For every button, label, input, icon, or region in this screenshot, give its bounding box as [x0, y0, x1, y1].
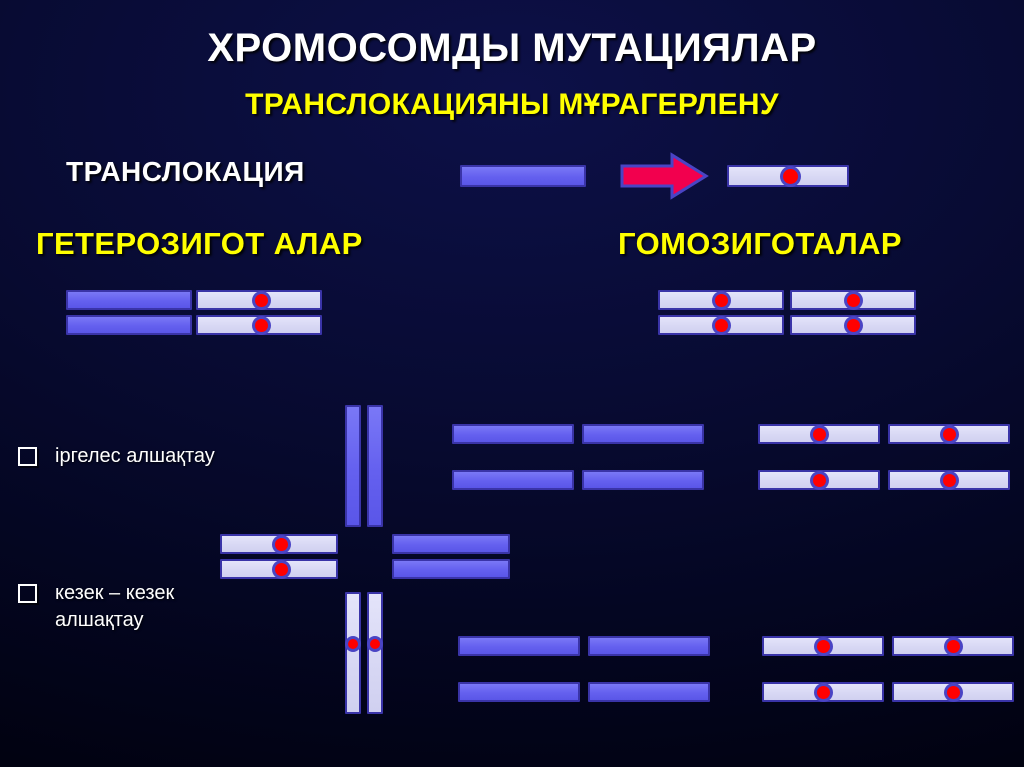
chromosome-bar [220, 534, 338, 554]
heterozygote-heading: ГЕТЕРОЗИГОТ АЛАР [36, 228, 363, 259]
chromosome-bar [762, 636, 884, 656]
chromosome-bar [452, 424, 574, 444]
bullet-square-icon [18, 584, 37, 603]
chromosome-bar [582, 424, 704, 444]
chromosome-marker-dot [847, 294, 860, 307]
chromosome-marker-dot [783, 169, 798, 184]
chromosome-bar [588, 636, 710, 656]
bullet-square-icon [18, 447, 37, 466]
bullet-item-adjacent: іргелес алшақтау [18, 443, 215, 470]
chromosome-bar [658, 315, 784, 335]
chromosome-bar [458, 682, 580, 702]
chromosome-marker-dot [943, 428, 956, 441]
chromosome-marker-dot [947, 686, 960, 699]
chromosome-marker-dot [348, 639, 358, 649]
chromosome-bar [888, 424, 1010, 444]
chromosome-marker-dot [715, 319, 728, 332]
chromosome-bar [790, 290, 916, 310]
chromosome-bar [392, 534, 510, 554]
chromosome-marker-dot [275, 538, 288, 551]
chromosome-bar [220, 559, 338, 579]
chromosome-bar [762, 682, 884, 702]
chromosome-bar [367, 592, 383, 714]
chromosome-bar [658, 290, 784, 310]
chromosome-marker-dot [715, 294, 728, 307]
slide-canvas: ХРОМОСОМДЫ МУТАЦИЯЛАР ТРАНСЛОКАЦИЯНЫ МҰР… [0, 0, 1024, 767]
chromosome-bar [392, 559, 510, 579]
page-subtitle: ТРАНСЛОКАЦИЯНЫ МҰРАГЕРЛЕНУ [0, 90, 1024, 120]
chromosome-bar [452, 470, 574, 490]
chromosome-marker-dot [943, 474, 956, 487]
chromosome-bar [588, 682, 710, 702]
chromosome-marker-dot [817, 640, 830, 653]
chromosome-bar [582, 470, 704, 490]
chromosome-marker-dot [847, 319, 860, 332]
chromosome-bar [345, 592, 361, 714]
chromosome-bar [888, 470, 1010, 490]
bullet-item-label: кезек – кезек алшақтау [55, 580, 174, 634]
bullet-item-alternate: кезек – кезек алшақтау [18, 580, 174, 634]
chromosome-bar [345, 405, 361, 527]
chromosome-marker-dot [947, 640, 960, 653]
chromosome-bar [790, 315, 916, 335]
chromosome-marker-dot [813, 474, 826, 487]
chromosome-marker-dot [255, 319, 268, 332]
chromosome-marker-dot [817, 686, 830, 699]
chromosome-bar [460, 165, 586, 187]
translocation-label: ТРАНСЛОКАЦИЯ [66, 158, 305, 186]
chromosome-marker-dot [813, 428, 826, 441]
chromosome-marker-dot [370, 639, 380, 649]
chromosome-bar [196, 290, 322, 310]
bullet-item-label: іргелес алшақтау [55, 443, 215, 470]
chromosome-bar [892, 636, 1014, 656]
page-title: ХРОМОСОМДЫ МУТАЦИЯЛАР [0, 28, 1024, 68]
homozygote-heading: ГОМОЗИГОТАЛАР [618, 228, 902, 259]
process-arrow-icon [620, 152, 710, 200]
chromosome-bar [367, 405, 383, 527]
chromosome-bar [758, 470, 880, 490]
chromosome-bar [66, 315, 192, 335]
chromosome-bar [66, 290, 192, 310]
chromosome-bar [892, 682, 1014, 702]
chromosome-marker-dot [275, 563, 288, 576]
chromosome-bar [196, 315, 322, 335]
chromosome-marker-dot [255, 294, 268, 307]
chromosome-bar [727, 165, 849, 187]
chromosome-bar [458, 636, 580, 656]
chromosome-bar [758, 424, 880, 444]
